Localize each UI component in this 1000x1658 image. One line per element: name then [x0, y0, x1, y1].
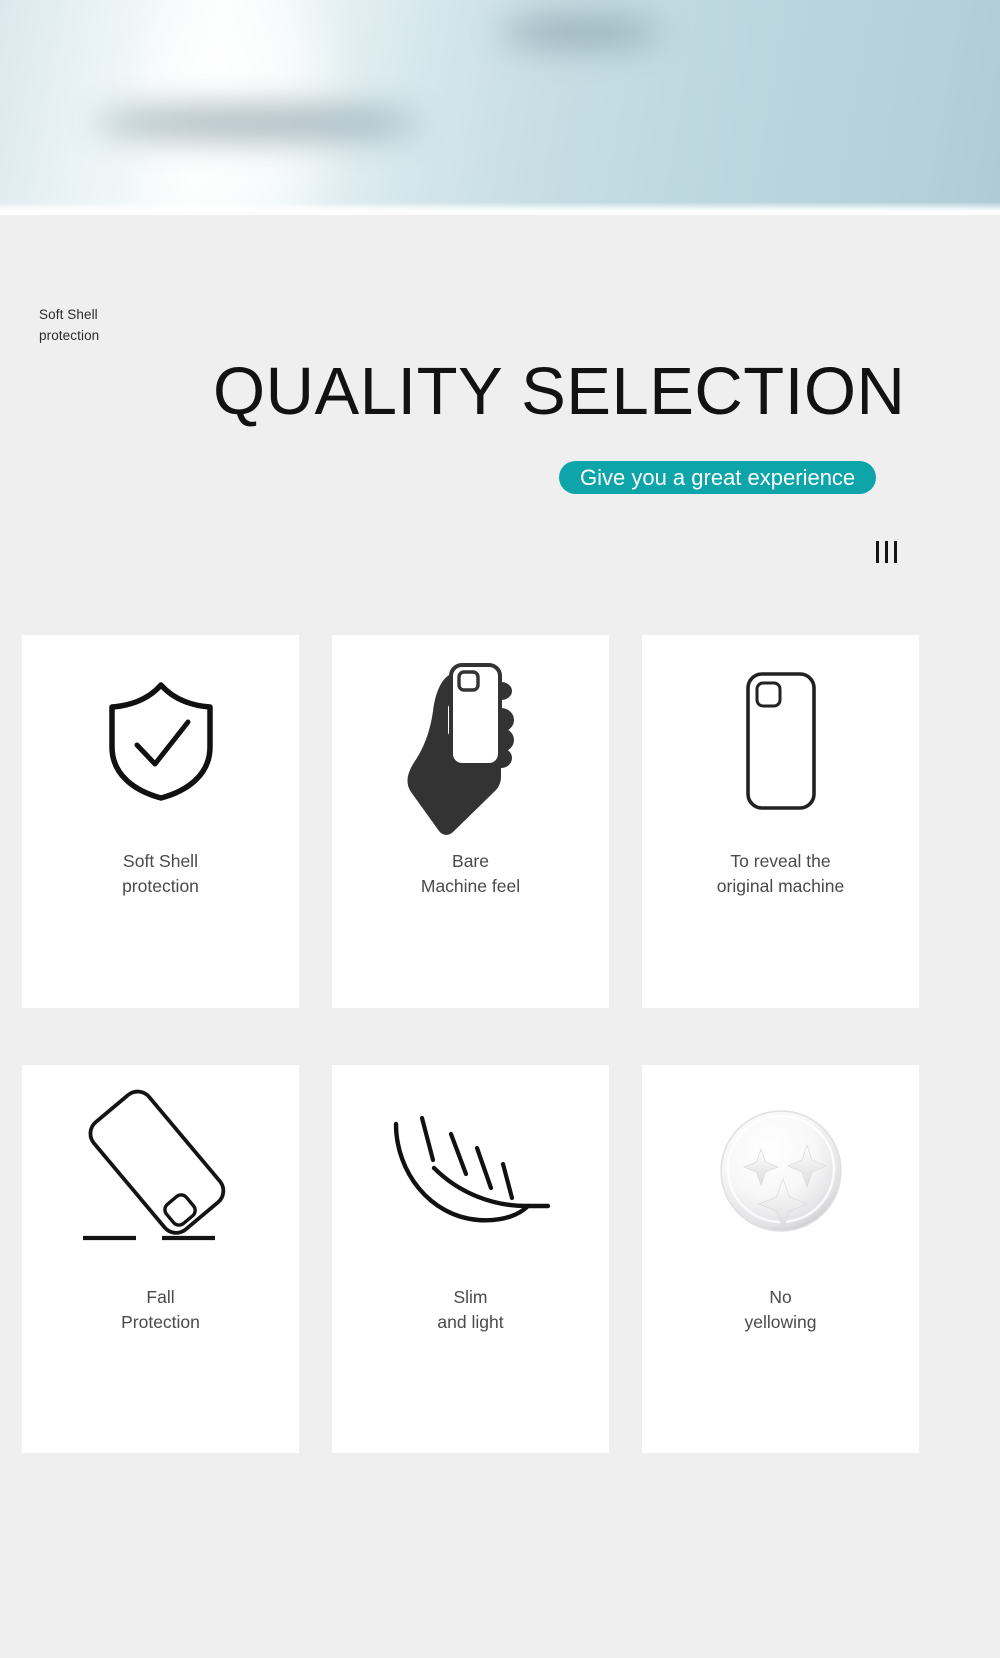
phone-back-outline-icon [642, 635, 919, 847]
hero-bottom-fade [0, 202, 1000, 210]
triple-bar-mark [876, 541, 897, 563]
feature-card-slim-and-light[interactable]: Slim and light [332, 1065, 609, 1453]
feather-icon [332, 1065, 609, 1277]
feature-label: Soft Shell protection [22, 849, 299, 899]
feature-card-reveal-original-machine[interactable]: To reveal the original machine [642, 635, 919, 1008]
kicker-text: Soft Shell protection [39, 304, 99, 346]
hero-banner [0, 0, 1000, 210]
sparkle-circle-icon [642, 1065, 919, 1277]
feature-row: Soft Shell protection [0, 635, 1000, 1008]
hero-highlight [120, 0, 350, 210]
feature-card-bare-machine-feel[interactable]: Bare Machine feel [332, 635, 609, 1008]
feature-card-soft-shell-protection[interactable]: Soft Shell protection [22, 635, 299, 1008]
headline-section: Soft Shell protection QUALITY SELECTION … [0, 215, 1000, 635]
feature-label: No yellowing [642, 1285, 919, 1335]
hero-blurred-text-main [95, 108, 420, 138]
feature-card-no-yellowing[interactable]: No yellowing [642, 1065, 919, 1453]
feature-label: Slim and light [332, 1285, 609, 1335]
feature-card-fall-protection[interactable]: Fall Protection [22, 1065, 299, 1453]
feature-row: Fall Protection Slim and light [0, 1065, 1000, 1453]
hand-holding-phone-icon [332, 635, 609, 847]
feature-label: To reveal the original machine [642, 849, 919, 899]
bar-mark-1 [876, 541, 879, 563]
feature-label: Bare Machine feel [332, 849, 609, 899]
experience-badge: Give you a great experience [559, 461, 876, 494]
bar-mark-3 [894, 541, 897, 563]
shield-check-icon [22, 635, 299, 847]
falling-phone-icon [22, 1065, 299, 1277]
bar-mark-2 [885, 541, 888, 563]
feature-grid: Soft Shell protection [0, 635, 1000, 1453]
hero-blurred-text-top [500, 18, 660, 46]
feature-label: Fall Protection [22, 1285, 299, 1335]
page-title: QUALITY SELECTION [213, 356, 905, 428]
